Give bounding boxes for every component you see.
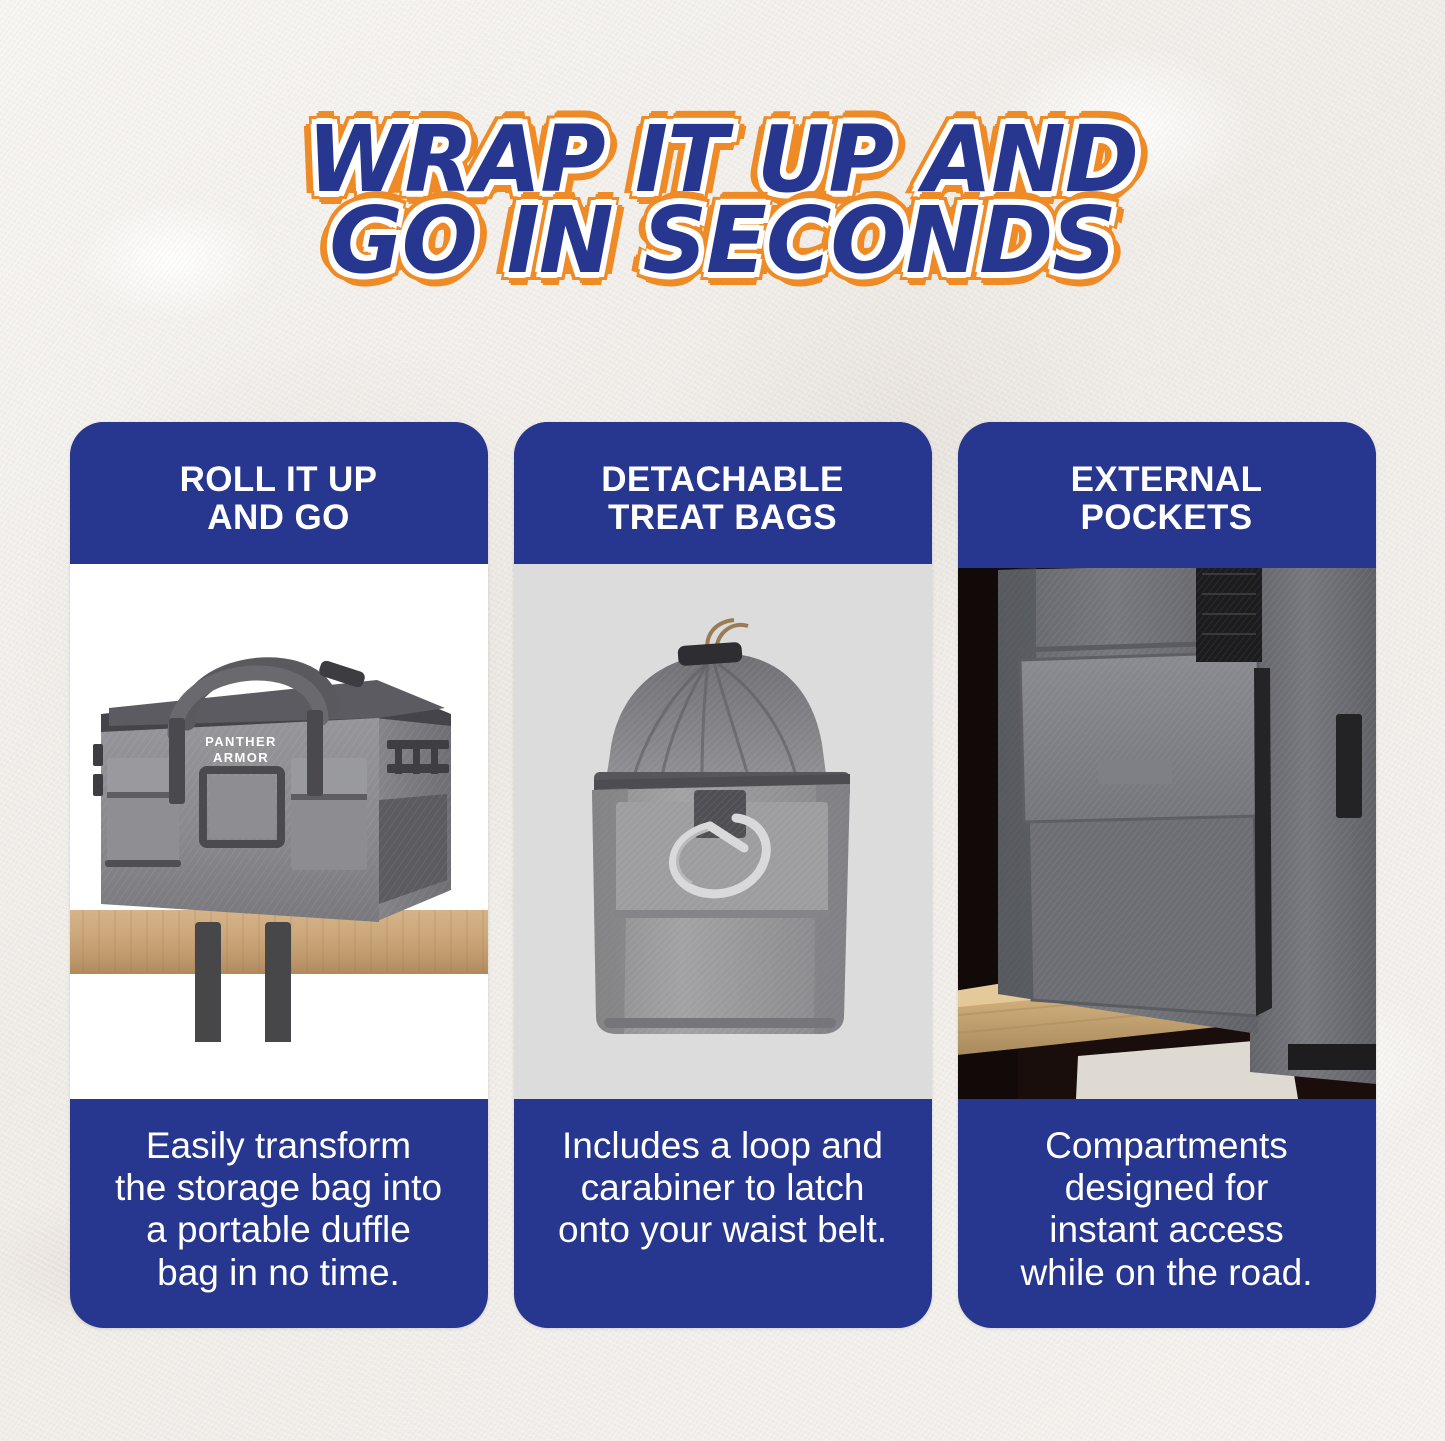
caption-line-3: onto your waist belt.: [558, 1209, 887, 1251]
card-title-roll-it-up-and-go: ROLL IT UP AND GO: [70, 422, 488, 564]
caption-line-2: designed for: [1020, 1167, 1312, 1209]
caption-line-1: Compartments: [1020, 1125, 1312, 1167]
caption-line-4: while on the road.: [1020, 1252, 1312, 1294]
panel-binding: [1254, 668, 1272, 1016]
brand-label-line-1: PANTHER: [205, 734, 277, 749]
tote-bag-illustration: PANTHER ARMOR: [79, 622, 479, 1042]
photo-top-edge: [958, 564, 1376, 568]
card-caption-external-pockets: Compartments designed for instant access…: [958, 1099, 1376, 1328]
card-caption-detachable-treat-bags: Includes a loop and carabiner to latch o…: [514, 1099, 932, 1328]
treat-bag-illustration: [558, 604, 888, 1064]
caption-line-2: carabiner to latch: [558, 1167, 887, 1209]
card-title-external-pockets: EXTERNAL POCKETS: [958, 422, 1376, 564]
feature-card-detachable-treat-bags: DETACHABLE TREAT BAGS: [514, 422, 932, 1328]
caption-line-3: a portable duffle: [115, 1209, 442, 1251]
caption-line-1: Includes a loop and: [558, 1125, 887, 1167]
caption-line-2: the storage bag into: [115, 1167, 442, 1209]
handle-anchor-left: [169, 718, 185, 804]
card-title-line-2: TREAT BAGS: [601, 499, 844, 537]
caption-line-4: bag in no time.: [115, 1252, 442, 1294]
hanging-strap-left: [195, 922, 221, 1042]
hanging-strap-right: [265, 922, 291, 1042]
velcro-patch: [1098, 760, 1172, 784]
external-pocket-illustration: [958, 564, 1376, 1099]
page-headline: WRAP IT UP AND GO IN SECONDS: [0, 118, 1445, 283]
handle-anchor-right: [307, 710, 323, 796]
feature-card-external-pockets: EXTERNAL POCKETS: [958, 422, 1376, 1328]
detachable-treat-bag-with-carabiner-photo: [514, 564, 932, 1099]
card-title-line-1: ROLL IT UP: [180, 461, 378, 499]
brand-label-line-2: ARMOR: [212, 750, 268, 765]
feature-card-roll-it-up-and-go: ROLL IT UP AND GO: [70, 422, 488, 1328]
card-title-line-2: POCKETS: [1071, 499, 1263, 537]
bottom-seam: [604, 1018, 836, 1028]
card-title-line-1: EXTERNAL: [1071, 461, 1263, 499]
caption-line-3: instant access: [1020, 1209, 1312, 1251]
card-title-line-1: DETACHABLE: [601, 461, 844, 499]
card-caption-roll-it-up-and-go: Easily transform the storage bag into a …: [70, 1099, 488, 1328]
caption-line-1: Easily transform: [115, 1125, 442, 1167]
velcro-strip-right: [1336, 714, 1362, 818]
bottom-webbing-strap: [1288, 1044, 1376, 1070]
headline-line-2: GO IN SECONDS: [22, 199, 1424, 284]
external-flap-pocket-closeup-photo: [958, 564, 1376, 1099]
card-title-detachable-treat-bags: DETACHABLE TREAT BAGS: [514, 422, 932, 564]
tote-bag-on-wooden-beam-photo: PANTHER ARMOR: [70, 564, 488, 1099]
card-title-line-2: AND GO: [180, 499, 378, 537]
feature-cards-row: ROLL IT UP AND GO: [0, 422, 1445, 1328]
id-window: [209, 776, 275, 838]
